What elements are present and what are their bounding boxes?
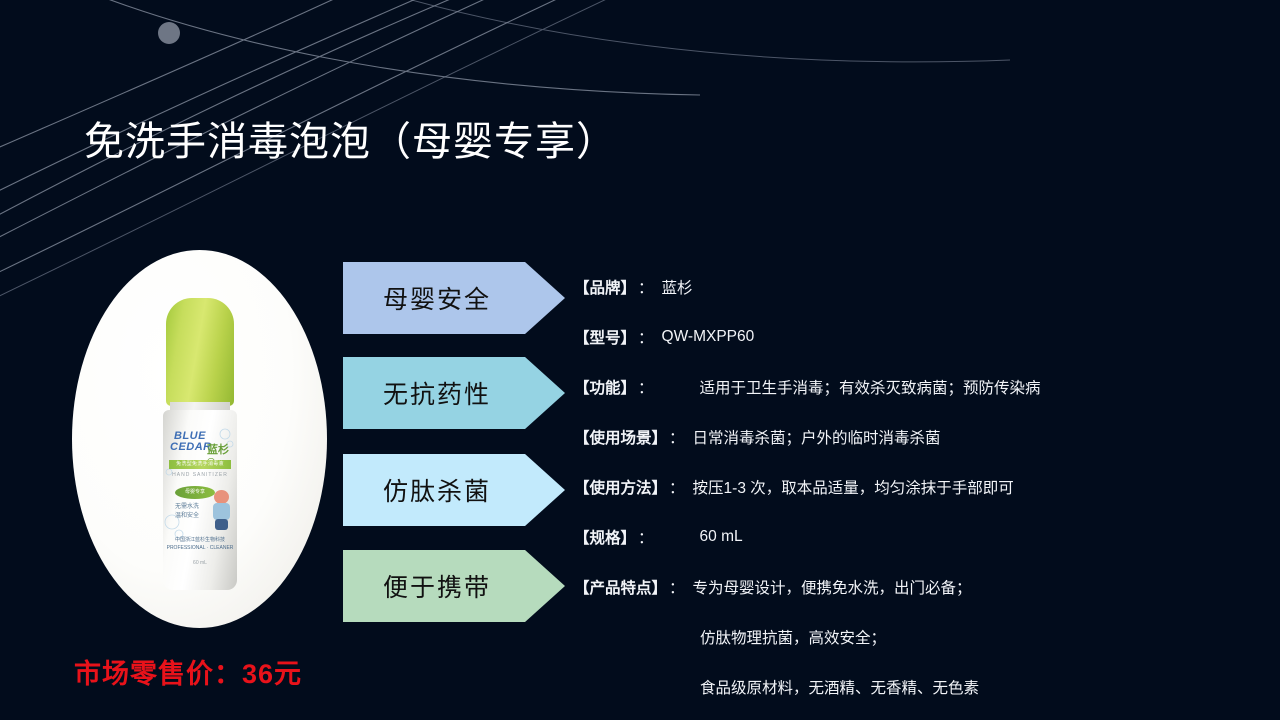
spec-sep-function: ： xyxy=(638,376,654,398)
label-subtitle-en: HAND SANITIZER xyxy=(163,472,237,478)
baby-head xyxy=(214,490,229,504)
spec-value-model: QW-MXPP60 xyxy=(662,328,755,346)
spec-row-features: 【产品特点】 ： 专为母婴设计，便携免水洗，出门必备； xyxy=(574,562,1264,612)
label-factory-en: PROFESSIONAL · CLEANER xyxy=(163,544,237,552)
spec-sep-brand: ： xyxy=(638,276,654,298)
spec-row-method: 【使用方法】 ： 按压1-3 次，取本品适量，均匀涂抹于手部即可 xyxy=(574,462,1264,512)
decorative-dot xyxy=(158,22,180,44)
slide-root: 免洗手消毒泡泡（母婴专享） BLUE CEDAR xyxy=(0,0,1280,720)
label-factory: 中国浙江蓝杉生物科技 PROFESSIONAL · CLEANER xyxy=(163,536,237,552)
spec-key-function: 【功能】 xyxy=(574,376,636,398)
spec-value-volume: 60 mL xyxy=(700,528,743,546)
spec-value-method: 按压1-3 次，取本品适量，均匀涂抹于手部即可 xyxy=(693,476,1014,498)
feature-chevron-2: 仿肽杀菌 xyxy=(343,454,565,526)
spec-key-scenario: 【使用场景】 xyxy=(574,426,667,448)
spec-sep-volume: ： xyxy=(638,526,654,548)
spec-row-scenario: 【使用场景】 ： 日常消毒杀菌；户外的临时消毒杀菌 xyxy=(574,412,1264,462)
baby-legs xyxy=(215,519,228,530)
spec-value-features-cont-1: 仿肽物理抗菌，高效安全； xyxy=(700,626,886,648)
spec-row-features-cont-2: 食品级原材料，无酒精、无香精、无色素 xyxy=(574,662,1264,712)
spec-sep-model: ： xyxy=(638,326,654,348)
label-volume: 60 mL xyxy=(163,560,237,566)
feature-chevron-label-1: 无抗药性 xyxy=(383,375,491,411)
bottle-body: BLUE CEDAR 蓝杉® 免洗型免洗手消毒液 HAND SANITIZER … xyxy=(163,410,237,590)
feature-chevron-3: 便于携带 xyxy=(343,550,565,622)
spec-sep-scenario: ： xyxy=(669,426,685,448)
feature-chevron-0: 母婴安全 xyxy=(343,262,565,334)
feature-chevron-label-0: 母婴安全 xyxy=(383,280,491,316)
spec-key-brand: 【品牌】 xyxy=(574,276,636,298)
spec-value-features: 专为母婴设计，便携免水洗，出门必备； xyxy=(693,576,972,598)
spec-value-features-cont-2: 食品级原材料，无酒精、无香精、无色素 xyxy=(700,676,979,698)
baby-mascot-icon xyxy=(211,490,233,530)
spec-value-brand: 蓝杉 xyxy=(662,276,693,298)
spec-value-scenario: 日常消毒杀菌；户外的临时消毒杀菌 xyxy=(693,426,941,448)
baby-body xyxy=(213,503,230,520)
feature-chevron-label-2: 仿肽杀菌 xyxy=(383,472,491,508)
label-badge: 母婴专享 xyxy=(175,486,215,499)
label-claim-line1: 无需水洗 xyxy=(175,503,199,512)
spec-value-function: 适用于卫生手消毒；有效杀灭致病菌；预防传染病 xyxy=(700,376,1041,398)
spec-sep-method: ： xyxy=(669,476,685,498)
spec-row-volume: 【规格】 ： 60 mL xyxy=(574,512,1264,562)
spec-row-features-cont-1: 仿肽物理抗菌，高效安全； xyxy=(574,612,1264,662)
spec-sep-features: ： xyxy=(669,576,685,598)
product-photo: BLUE CEDAR 蓝杉® 免洗型免洗手消毒液 HAND SANITIZER … xyxy=(72,250,327,628)
label-green-band: 免洗型免洗手消毒液 xyxy=(169,460,231,469)
bottle-cap xyxy=(166,298,234,406)
label-brand-en-line2: CEDAR xyxy=(170,441,212,453)
spec-row-function: 【功能】 ： 适用于卫生手消毒；有效杀灭致病菌；预防传染病 xyxy=(574,362,1264,412)
label-claim: 无需水洗 温和安全 xyxy=(175,503,199,521)
spec-row-brand: 【品牌】 ： 蓝杉 xyxy=(574,262,1264,312)
spec-list: 【品牌】 ： 蓝杉 【型号】 ： QW-MXPP60 【功能】 ： 适用于卫生手… xyxy=(574,262,1264,712)
feature-chevron-1: 无抗药性 xyxy=(343,357,565,429)
label-factory-cn: 中国浙江蓝杉生物科技 xyxy=(163,536,237,544)
spec-key-model: 【型号】 xyxy=(574,326,636,348)
spec-key-features: 【产品特点】 xyxy=(574,576,667,598)
bottle-illustration: BLUE CEDAR 蓝杉® 免洗型免洗手消毒液 HAND SANITIZER … xyxy=(160,298,240,590)
label-claim-line2: 温和安全 xyxy=(175,512,199,521)
spec-key-method: 【使用方法】 xyxy=(574,476,667,498)
spec-key-volume: 【规格】 xyxy=(574,526,636,548)
page-title: 免洗手消毒泡泡（母婴专享） xyxy=(84,118,617,166)
feature-chevron-label-3: 便于携带 xyxy=(383,568,491,604)
spec-row-model: 【型号】 ： QW-MXPP60 xyxy=(574,312,1264,362)
retail-price-text: 市场零售价：36元 xyxy=(74,652,302,691)
